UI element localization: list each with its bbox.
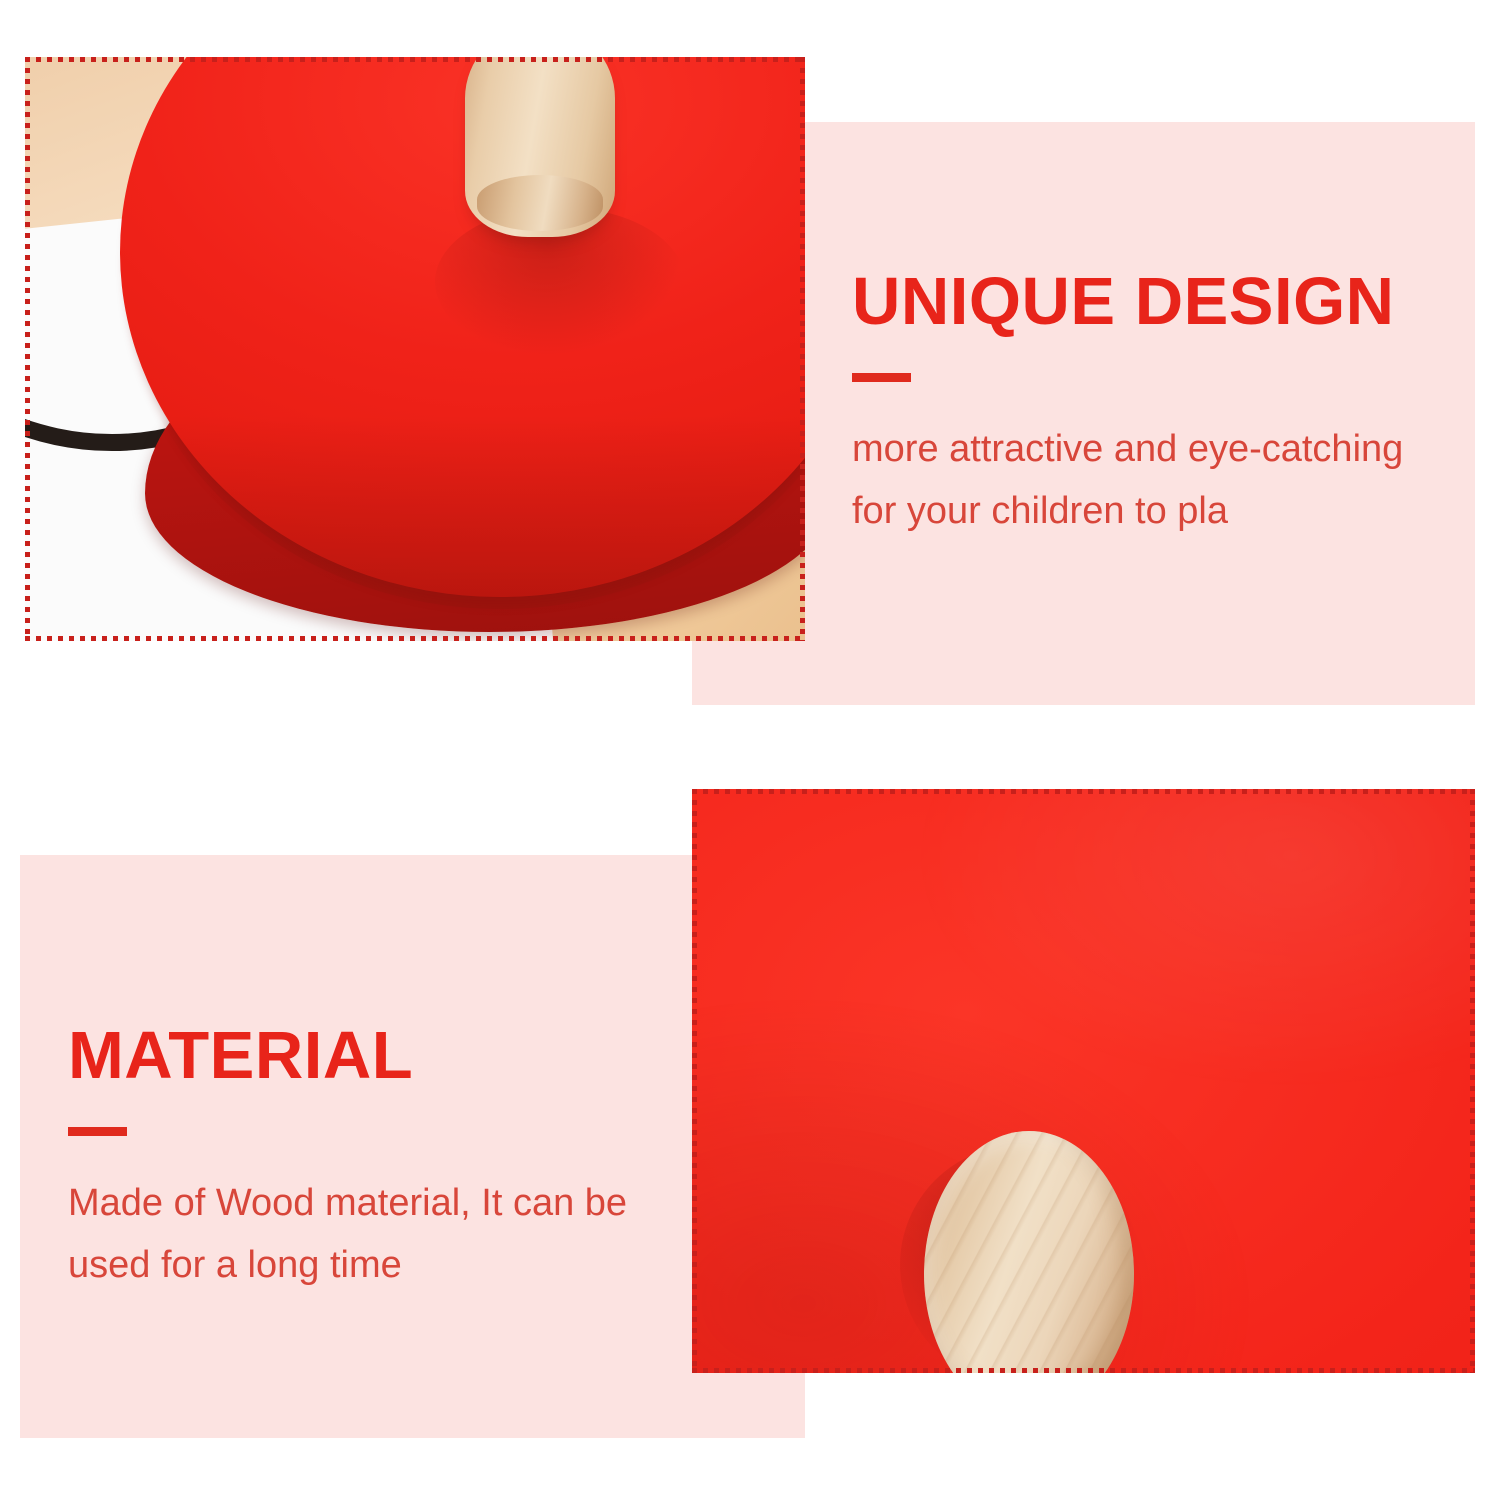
heading-rule-material bbox=[68, 1127, 127, 1136]
heading-material: MATERIAL bbox=[68, 1022, 688, 1089]
copy-block-material: MATERIAL Made of Wood material, It can b… bbox=[68, 1022, 688, 1296]
copy-block-unique-design: UNIQUE DESIGN more attractive and eye-ca… bbox=[852, 268, 1452, 542]
photo-scene-top bbox=[25, 57, 805, 641]
product-photo-material bbox=[692, 789, 1475, 1373]
heading-unique-design: UNIQUE DESIGN bbox=[852, 268, 1452, 335]
body-text-material: Made of Wood material, It can be used fo… bbox=[68, 1172, 688, 1296]
product-photo-unique-design bbox=[25, 57, 805, 641]
infographic-canvas: UNIQUE DESIGN more attractive and eye-ca… bbox=[0, 0, 1500, 1500]
heading-rule-unique-design bbox=[852, 373, 911, 382]
photo-scene-bottom bbox=[692, 789, 1475, 1373]
body-text-unique-design: more attractive and eye-catching for you… bbox=[852, 418, 1452, 542]
wooden-peg-collar bbox=[477, 175, 603, 231]
